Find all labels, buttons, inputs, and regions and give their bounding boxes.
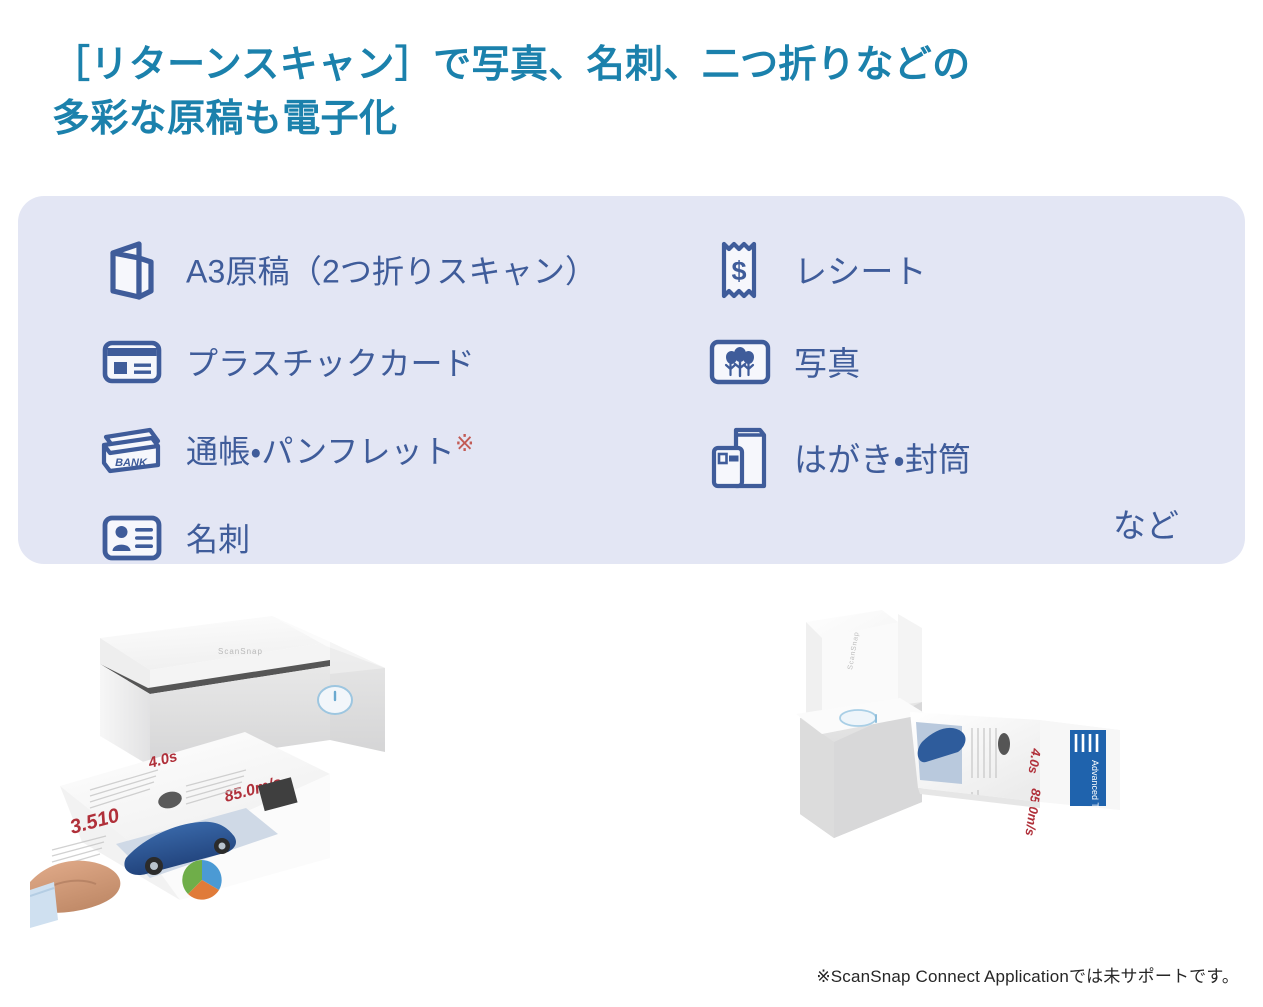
note-mark: ※ [455, 430, 474, 456]
list-item-label: A3原稿（2つ折りスキャン） [186, 252, 597, 288]
scanner-front-feeding-document: ScanSnap 4.0s 85.0m/s 3.510 [30, 590, 570, 930]
list-item: BANK 通帳・パンフレット※ [100, 406, 690, 494]
svg-text:Advanced Technology: Advanced Technology [1090, 760, 1100, 848]
list-item: プラスチックカード [100, 318, 690, 406]
bankbook-icon: BANK [100, 417, 164, 483]
receipt-icon: $ [708, 237, 772, 303]
page-title: ［リターンスキャン］で写真、名刺、二つ折りなどの 多彩な原稿も電子化 [52, 39, 1232, 147]
supported-document-types-panel: A3原稿（2つ折りスキャン） プラスチックカード [18, 196, 1245, 564]
list-item-label: はがき・封筒 [794, 440, 971, 476]
list-item: 写真 [708, 318, 1245, 406]
list-item: $ レシート [708, 222, 1245, 318]
business-card-icon [100, 505, 164, 571]
list-item: A3原稿（2つ折りスキャン） [100, 222, 690, 318]
list-item-label: 通帳・パンフレット※ [186, 432, 474, 468]
scanner-return-scan-output: ScanSnap 4.0s [740, 602, 1170, 902]
folded-a3-document-icon [100, 237, 164, 303]
dollar-sign-glyph: $ [731, 256, 746, 286]
list-item-label: プラスチックカード [186, 344, 475, 380]
etc-label: など [1113, 509, 1179, 542]
plastic-card-icon [100, 329, 164, 395]
bankbook-icon-text: BANK [115, 457, 148, 469]
list-item-label: 名刺 [186, 520, 250, 556]
list-item: はがき・封筒 [708, 406, 1245, 510]
photo-icon [708, 329, 772, 395]
list-item-label: レシート [794, 252, 927, 288]
list-item-label: 写真 [794, 344, 860, 380]
footnote-text: ※ScanSnap Connect Applicationでは未サポートです。 [816, 967, 1239, 987]
list-item: 名刺 [100, 494, 690, 582]
product-photo-area: ScanSnap 4.0s 85.0m/s 3.510 [0, 580, 1263, 940]
document-types-left-column: A3原稿（2つ折りスキャン） プラスチックカード [18, 196, 690, 564]
postcard-envelope-icon [708, 425, 772, 491]
svg-text:ScanSnap: ScanSnap [218, 647, 263, 656]
